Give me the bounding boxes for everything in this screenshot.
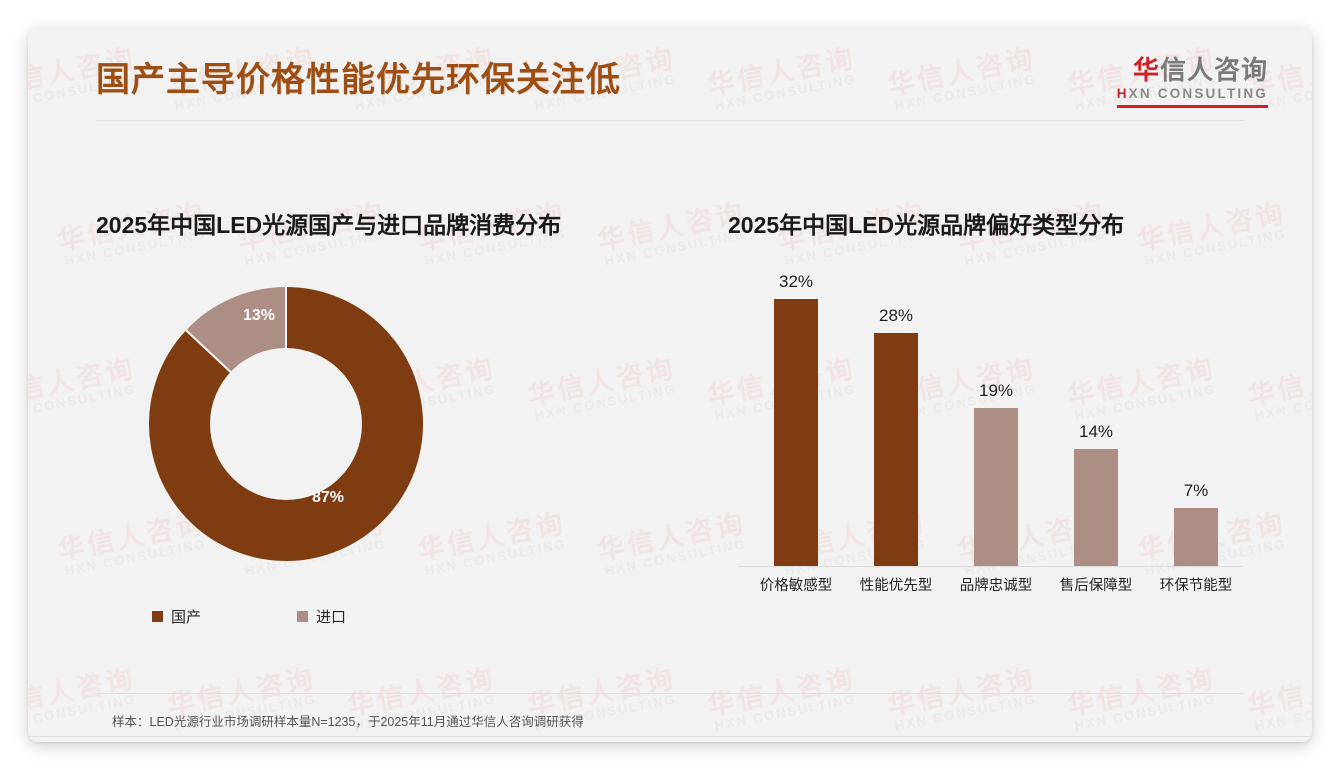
- watermark-english-text: HXN CONSULTING: [1251, 382, 1312, 425]
- bar-value-label: 28%: [854, 306, 938, 326]
- bar-column[interactable]: 7%: [1154, 481, 1238, 566]
- logo-english-text: HXN CONSULTING: [1117, 86, 1268, 102]
- legend-swatch-icon-domestic: [152, 611, 163, 622]
- slide-canvas: 华信人咨询HXN CONSULTING华信人咨询HXN CONSULTING华信…: [28, 28, 1312, 742]
- watermark-logo: 华信人咨询HXN CONSULTING: [1245, 354, 1312, 424]
- logo-english-rest: XN CONSULTING: [1129, 86, 1268, 101]
- bar-category-label: 价格敏感型: [749, 574, 843, 595]
- bar-column[interactable]: 28%: [854, 306, 938, 566]
- bar-category-label: 品牌忠诚型: [949, 574, 1043, 595]
- watermark-logo: 华信人咨询HXN CONSULTING: [1065, 664, 1220, 734]
- slide-header: 国产主导价格性能优先环保关注低 华信人咨询 HXN CONSULTING: [28, 28, 1312, 126]
- bar-category-label: 环保节能型: [1149, 574, 1243, 595]
- bar-value-label: 14%: [1054, 422, 1138, 442]
- bar-category-label: 售后保障型: [1049, 574, 1143, 595]
- watermark-english-text: HXN CONSULTING: [1251, 692, 1312, 735]
- bar-rect[interactable]: [774, 299, 818, 566]
- donut-chart-panel: 2025年中国LED光源国产与进口品牌消费分布 87% 13% 国产 进口: [96, 206, 676, 666]
- legend-label-imported: 进口: [316, 606, 346, 627]
- footer-divider: [28, 736, 1312, 737]
- bar-plot-area: 32%28%19%14%7%: [740, 266, 1240, 566]
- logo-chinese-rest: 信人咨询: [1160, 55, 1268, 85]
- watermark-logo: 华信人咨询HXN CONSULTING: [1245, 664, 1312, 734]
- legend-label-domestic: 国产: [171, 606, 201, 627]
- bar-column[interactable]: 14%: [1054, 422, 1138, 566]
- page-title: 国产主导价格性能优先环保关注低: [96, 52, 621, 101]
- donut-slice-label-domestic: 87%: [312, 489, 344, 507]
- bar-value-label: 19%: [954, 381, 1038, 401]
- watermark-logo: 华信人咨询HXN CONSULTING: [705, 664, 860, 734]
- logo-underline: [1117, 105, 1268, 108]
- bar-value-label: 32%: [754, 272, 838, 292]
- watermark-english-text: HXN CONSULTING: [1071, 692, 1221, 735]
- donut-chart-title: 2025年中国LED光源国产与进口品牌消费分布: [96, 206, 676, 240]
- sample-footnote: 样本：LED光源行业市场调研样本量N=1235，于2025年11月通过华信人咨询…: [112, 711, 584, 730]
- bar-rect[interactable]: [874, 333, 918, 566]
- watermark-chinese-text: 华信人咨询: [1245, 354, 1312, 410]
- bar-chart-title: 2025年中国LED光源品牌偏好类型分布: [728, 206, 1248, 240]
- donut-hole: [210, 348, 362, 500]
- watermark-chinese-text: 华信人咨询: [1245, 664, 1312, 720]
- footnote-divider: [96, 693, 1244, 694]
- logo-chinese-text: 华信人咨询: [1117, 56, 1268, 86]
- donut-chart-svg: [136, 274, 436, 574]
- bar-chart: 32%28%19%14%7% 价格敏感型性能优先型品牌忠诚型售后保障型环保节能型: [728, 266, 1248, 666]
- bar-rect[interactable]: [1174, 508, 1218, 566]
- bar-chart-category-axis: 价格敏感型性能优先型品牌忠诚型售后保障型环保节能型: [740, 574, 1240, 600]
- donut-chart: 87% 13%: [136, 274, 436, 574]
- legend-item-imported[interactable]: 进口: [297, 606, 346, 627]
- bar-rect[interactable]: [974, 408, 1018, 566]
- company-logo: 华信人咨询 HXN CONSULTING: [1117, 56, 1268, 108]
- bar-category-label: 性能优先型: [849, 574, 943, 595]
- legend-item-domestic[interactable]: 国产: [152, 606, 201, 627]
- bar-chart-baseline-axis: [738, 566, 1242, 567]
- bar-column[interactable]: 32%: [754, 272, 838, 566]
- watermark-english-text: HXN CONSULTING: [891, 692, 1041, 735]
- donut-legend: 国产 进口: [152, 606, 452, 627]
- header-divider: [96, 120, 1244, 121]
- bar-rect[interactable]: [1074, 449, 1118, 566]
- donut-slice-label-imported: 13%: [243, 307, 275, 325]
- bar-column[interactable]: 19%: [954, 381, 1038, 566]
- watermark-english-text: HXN CONSULTING: [711, 692, 861, 735]
- legend-swatch-icon-imported: [297, 611, 308, 622]
- bar-chart-panel: 2025年中国LED光源品牌偏好类型分布 32%28%19%14%7% 价格敏感…: [728, 206, 1248, 666]
- bar-value-label: 7%: [1154, 481, 1238, 501]
- watermark-logo: 华信人咨询HXN CONSULTING: [885, 664, 1040, 734]
